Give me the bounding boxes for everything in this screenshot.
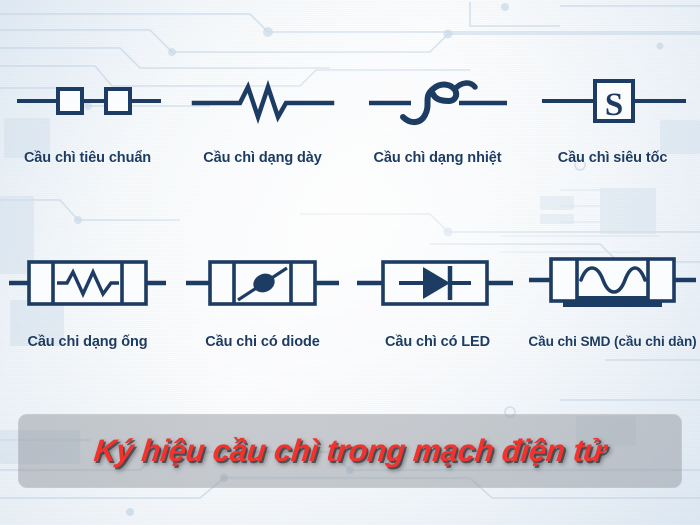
- symbol-cell-fast-acting-fuse[interactable]: S Cầu chì siêu tốc: [525, 62, 700, 166]
- symbol-caption: Cầu chì có LED: [385, 334, 490, 350]
- symbol-caption: Cầu chì siêu tốc: [558, 150, 668, 166]
- symbol-cell-diode-fuse[interactable]: Cầu chi có diode: [175, 244, 350, 350]
- symbol-cell-led-fuse[interactable]: Cầu chì có LED: [350, 244, 525, 350]
- symbol-cell-standard-fuse[interactable]: Cầu chì tiêu chuẩn: [0, 62, 175, 166]
- fast-acting-fuse-symbol: S: [538, 62, 688, 140]
- diode-fuse-symbol: [180, 244, 345, 322]
- symbol-cell-tube-fuse[interactable]: Cầu chi dạng ống: [0, 244, 175, 350]
- symbol-caption: Cầu chi SMD (cầu chi dàn): [528, 334, 696, 349]
- tube-fuse-symbol: [5, 244, 170, 322]
- symbol-row-2: Cầu chi dạng ống Cầu chi có diode: [0, 244, 700, 350]
- thick-zigzag-fuse-symbol: [188, 62, 338, 140]
- symbol-caption: Cầu chi dạng ống: [27, 334, 147, 350]
- smd-base-plate: [563, 296, 662, 307]
- symbol-caption: Cầu chì dạng nhiệt: [374, 150, 502, 166]
- poster-canvas: Cầu chì tiêu chuẩn Cầu chì dạng dày: [0, 0, 700, 525]
- thermal-fuse-symbol: [363, 62, 513, 140]
- symbol-row-1: Cầu chì tiêu chuẩn Cầu chì dạng dày: [0, 62, 700, 166]
- symbol-cell-thermal-fuse[interactable]: Cầu chì dạng nhiệt: [350, 62, 525, 166]
- symbol-caption: Cầu chì tiêu chuẩn: [24, 150, 151, 166]
- banner-title: Ký hiệu cầu chì trong mạch điện tử: [92, 433, 607, 469]
- title-banner: Ký hiệu cầu chì trong mạch điện tử: [18, 414, 682, 488]
- symbol-cell-smd-fuse[interactable]: Cầu chi SMD (cầu chi dàn): [525, 244, 700, 350]
- fuse-letter-s: S: [604, 87, 622, 123]
- symbol-caption: Cầu chi có diode: [205, 334, 319, 350]
- symbol-caption: Cầu chì dạng dày: [203, 150, 321, 166]
- symbol-cell-thick-fuse[interactable]: Cầu chì dạng dày: [175, 62, 350, 166]
- led-fuse-symbol: [355, 244, 520, 322]
- standard-fuse-symbol: [13, 62, 163, 140]
- smd-fuse-symbol: [525, 244, 700, 322]
